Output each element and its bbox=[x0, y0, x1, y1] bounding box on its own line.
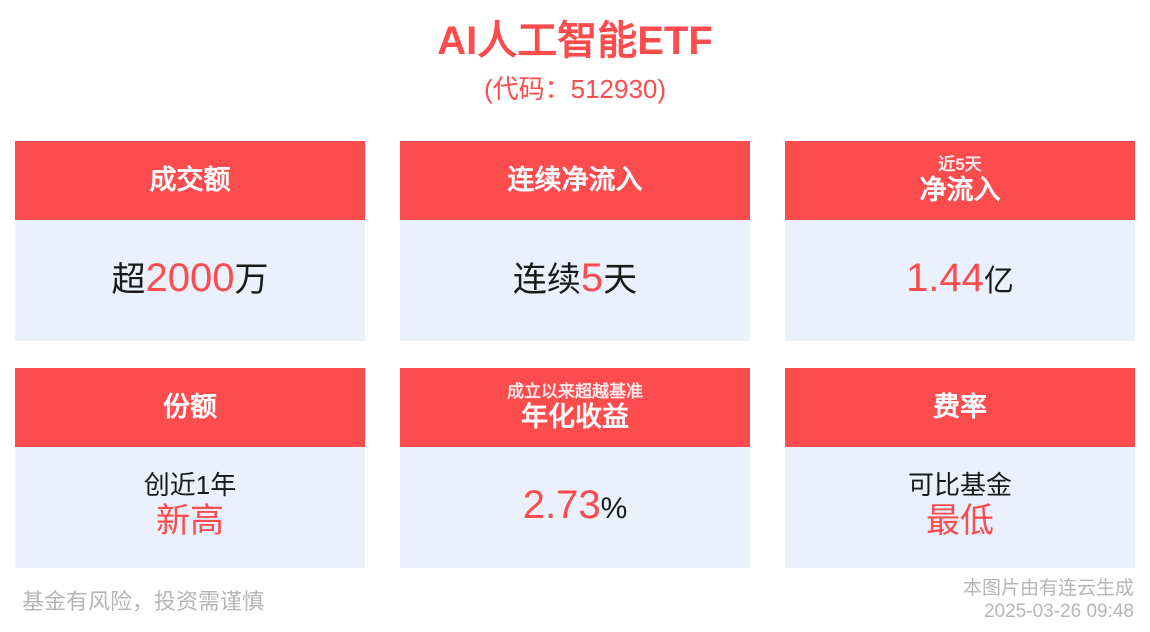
value-number: 2.73 bbox=[523, 483, 601, 527]
generator-source: 本图片由有连云生成 bbox=[963, 577, 1134, 601]
generated-timestamp: 2025-03-26 09:48 bbox=[963, 600, 1134, 624]
value-suffix: 万 bbox=[234, 261, 268, 299]
card-value: 2.73% bbox=[523, 483, 628, 528]
card-value: 超2000万 bbox=[112, 256, 269, 301]
card-body-fee-rate: 可比基金 最低 bbox=[785, 447, 1135, 568]
card-header-shares: 份额 bbox=[15, 368, 365, 447]
card-header-title: 费率 bbox=[933, 393, 987, 422]
card-header-title: 年化收益 bbox=[521, 403, 629, 432]
card-header-net-inflow-5d: 近5天 净流入 bbox=[785, 141, 1135, 220]
card-header-eyebrow: 成立以来超越基准 bbox=[507, 383, 643, 401]
value-prefix: 超 bbox=[112, 261, 146, 299]
card-body-annualized-return: 2.73% bbox=[400, 447, 750, 568]
card-body-shares: 创近1年 新高 bbox=[15, 447, 365, 568]
risk-disclaimer: 基金有风险，投资需谨慎 bbox=[22, 584, 264, 616]
metric-card-shares[interactable]: 份额 创近1年 新高 bbox=[15, 368, 365, 568]
value-prefix: 连续 bbox=[513, 261, 581, 299]
card-body-consecutive-inflow: 连续5天 bbox=[400, 220, 750, 341]
page-title: AI人工智能ETF bbox=[0, 16, 1150, 66]
value-number: 1.44 bbox=[906, 256, 984, 300]
card-header-title: 份额 bbox=[163, 393, 217, 422]
card-header-consecutive-inflow: 连续净流入 bbox=[400, 141, 750, 220]
metric-card-annualized-return[interactable]: 成立以来超越基准 年化收益 2.73% bbox=[400, 368, 750, 568]
metric-card-grid: 成交额 超2000万 连续净流入 连续5天 近5天 净流入 1.44亿 bbox=[15, 141, 1135, 568]
card-header-fee-rate: 费率 bbox=[785, 368, 1135, 447]
card-body-turnover: 超2000万 bbox=[15, 220, 365, 341]
card-value-highlight: 新高 bbox=[156, 502, 224, 540]
card-header-title: 净流入 bbox=[920, 176, 1001, 205]
card-header-eyebrow: 近5天 bbox=[938, 156, 981, 174]
metric-card-turnover[interactable]: 成交额 超2000万 bbox=[15, 141, 365, 341]
value-suffix: 天 bbox=[603, 261, 637, 299]
page-header: AI人工智能ETF (代码：512930) bbox=[0, 0, 1150, 106]
footer-attribution: 本图片由有连云生成 2025-03-26 09:48 bbox=[963, 577, 1134, 625]
footer: 基金有风险，投资需谨慎 本图片由有连云生成 2025-03-26 09:48 bbox=[0, 568, 1150, 632]
card-header-title: 连续净流入 bbox=[508, 166, 643, 195]
card-header-turnover: 成交额 bbox=[15, 141, 365, 220]
card-header-annualized-return: 成立以来超越基准 年化收益 bbox=[400, 368, 750, 447]
card-header-title: 成交额 bbox=[150, 166, 231, 195]
fund-code-subtitle: (代码：512930) bbox=[0, 72, 1150, 106]
card-value-caption: 可比基金 bbox=[908, 471, 1012, 500]
metric-card-consecutive-inflow[interactable]: 连续净流入 连续5天 bbox=[400, 141, 750, 341]
card-value-highlight: 最低 bbox=[926, 502, 994, 540]
card-value: 1.44亿 bbox=[906, 256, 1014, 301]
card-value-caption: 创近1年 bbox=[144, 471, 236, 500]
card-body-net-inflow-5d: 1.44亿 bbox=[785, 220, 1135, 341]
metric-card-fee-rate[interactable]: 费率 可比基金 最低 bbox=[785, 368, 1135, 568]
card-value: 连续5天 bbox=[513, 256, 637, 301]
value-unit: % bbox=[601, 492, 628, 525]
value-unit: 亿 bbox=[984, 265, 1014, 298]
value-number: 2000 bbox=[146, 256, 235, 300]
metric-card-net-inflow-5d[interactable]: 近5天 净流入 1.44亿 bbox=[785, 141, 1135, 341]
value-number: 5 bbox=[581, 256, 603, 300]
